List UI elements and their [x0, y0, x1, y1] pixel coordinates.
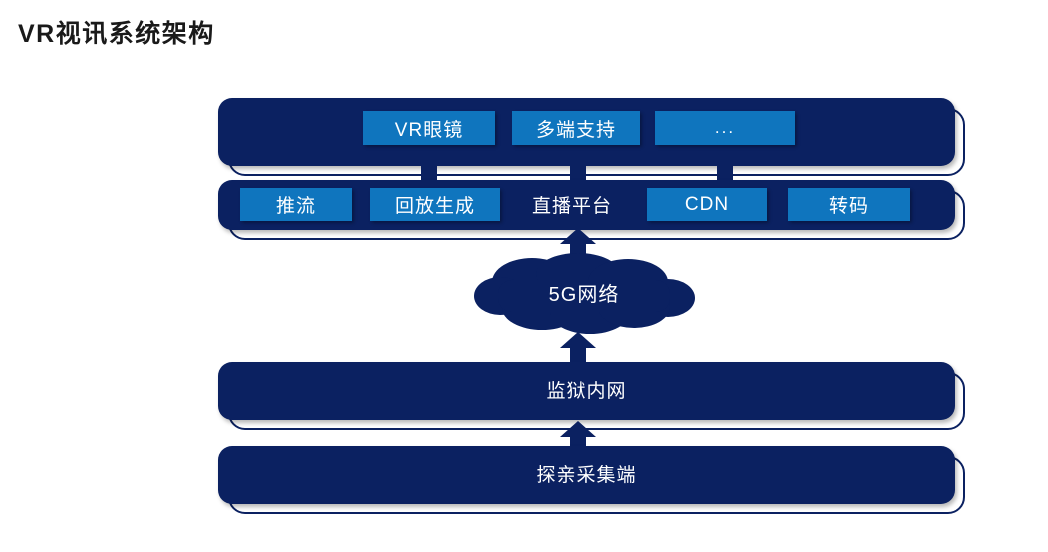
arrow-intranet-to-cloud — [558, 330, 598, 364]
chip-multi-terminal[interactable]: 多端支持 — [512, 111, 640, 145]
chip-multi-terminal-label: 多端支持 — [536, 115, 616, 142]
chip-playback-generation-label: 回放生成 — [395, 191, 475, 218]
chip-ellipsis-label: ... — [715, 118, 735, 138]
layer-prison-intranet: 监狱内网 — [218, 362, 955, 420]
chip-ellipsis[interactable]: ... — [655, 111, 795, 145]
layer-platform: 推流 回放生成 直播平台 CDN 转码 — [218, 180, 955, 230]
arrow-to-ellipsis — [705, 148, 745, 182]
layer-prison-intranet-label: 监狱内网 — [218, 376, 955, 403]
chip-transcode[interactable]: 转码 — [788, 188, 910, 221]
slide-canvas: VR视讯系统架构 VR眼镜 多端支持 ... — [0, 0, 1048, 552]
cloud-5g-network: 5G网络 — [470, 252, 698, 336]
layer-capture-label: 探亲采集端 — [218, 460, 955, 487]
chip-cdn-label: CDN — [685, 194, 729, 216]
chip-vr-glasses-label: VR眼镜 — [395, 115, 463, 142]
layer-capture: 探亲采集端 — [218, 446, 955, 504]
label-live-platform: 直播平台 — [515, 188, 629, 221]
arrow-to-multi-terminal — [558, 148, 598, 182]
chip-transcode-label: 转码 — [829, 191, 869, 218]
layer-capture-content: 探亲采集端 — [218, 446, 955, 504]
layer-platform-content: 推流 回放生成 直播平台 CDN 转码 — [218, 180, 955, 230]
chip-cdn[interactable]: CDN — [647, 188, 767, 221]
page-title: VR视讯系统架构 — [18, 14, 215, 50]
arrow-to-vr-glasses — [409, 148, 449, 182]
chip-playback-generation[interactable]: 回放生成 — [370, 188, 500, 221]
cloud-5g-network-label: 5G网络 — [470, 278, 698, 307]
layer-prison-intranet-content: 监狱内网 — [218, 362, 955, 420]
chip-vr-glasses[interactable]: VR眼镜 — [363, 111, 495, 145]
chip-push-stream-label: 推流 — [276, 191, 316, 218]
chip-push-stream[interactable]: 推流 — [240, 188, 352, 221]
